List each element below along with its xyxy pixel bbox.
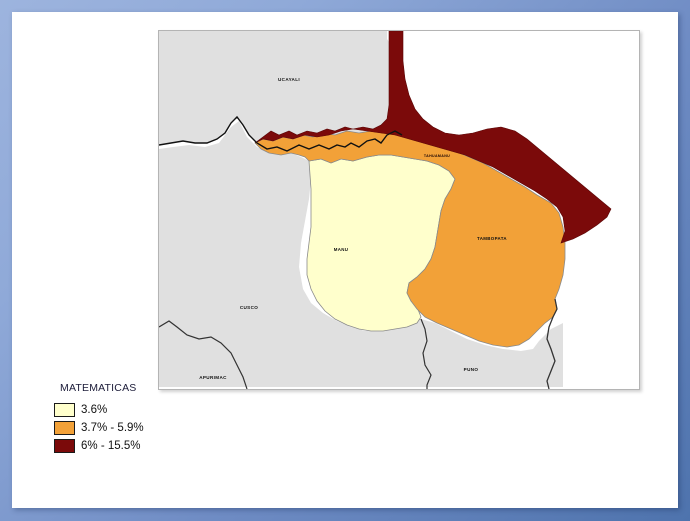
legend-swatch-low — [54, 403, 75, 417]
map-label-ucayali: UCAYALI — [278, 77, 300, 82]
legend-title: MATEMATICAS — [60, 382, 194, 394]
legend-label-high: 6% - 15.5% — [81, 440, 140, 452]
map-label-tambopata: TAMBOPATA — [477, 236, 507, 241]
legend-item[interactable]: 3.7% - 5.9% — [54, 421, 194, 435]
document-page: UCAYALI CUSCO APURIMAC PUNO MANU TAMBOPA… — [12, 12, 678, 508]
legend-label-mid: 3.7% - 5.9% — [81, 422, 144, 434]
legend-swatch-high — [54, 439, 75, 453]
legend-item[interactable]: 3.6% — [54, 403, 194, 417]
map-label-puno: PUNO — [464, 367, 479, 372]
map-label-cusco: CUSCO — [240, 305, 258, 310]
map-frame[interactable]: UCAYALI CUSCO APURIMAC PUNO MANU TAMBOPA… — [158, 30, 640, 390]
legend-label-low: 3.6% — [81, 404, 107, 416]
map-label-apurimac: APURIMAC — [199, 375, 227, 380]
map-legend: MATEMATICAS 3.6% 3.7% - 5.9% 6% - 15.5% — [54, 382, 194, 457]
choropleth-map[interactable]: UCAYALI CUSCO APURIMAC PUNO MANU TAMBOPA… — [159, 31, 639, 389]
map-label-tahuamanu: TAHUAMANU — [424, 154, 450, 158]
legend-swatch-mid — [54, 421, 75, 435]
map-label-manu: MANU — [334, 247, 349, 252]
legend-item[interactable]: 6% - 15.5% — [54, 439, 194, 453]
